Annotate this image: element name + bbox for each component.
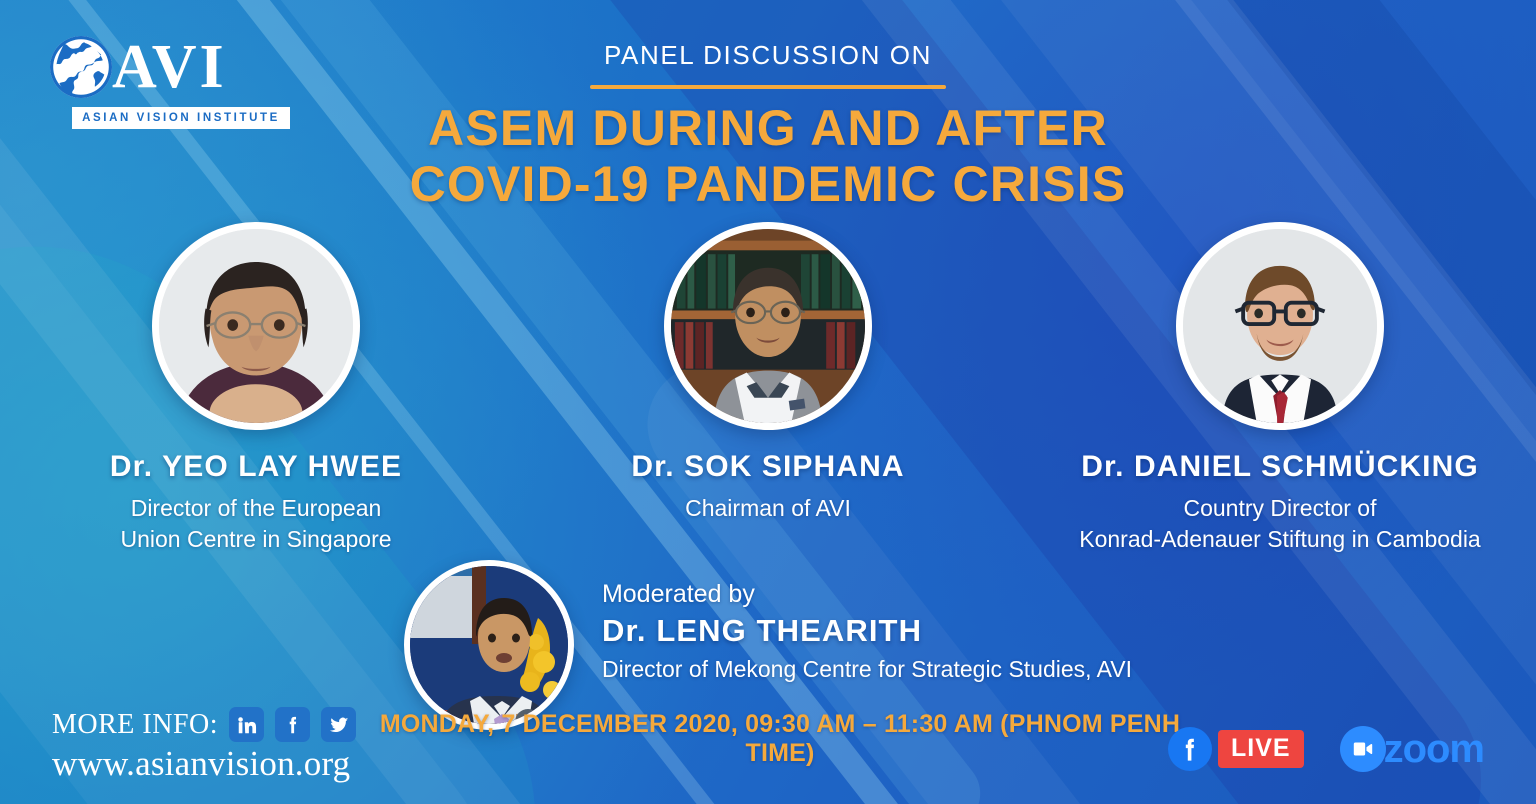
broadcast-platforms: LIVE zoom — [1168, 726, 1484, 772]
speaker-card-2: Dr. SOK SIPHANA Chairman of AVI — [512, 222, 1024, 555]
speaker-role-line-1: Director of the European — [0, 493, 512, 524]
zoom-badge[interactable]: zoom — [1340, 726, 1484, 772]
speaker-role-line-1: Country Director of — [1024, 493, 1536, 524]
speaker-role: Country Director of Konrad-Adenauer Stif… — [1024, 493, 1536, 555]
speaker-role-line-2: Konrad-Adenauer Stiftung in Cambodia — [1024, 524, 1536, 555]
title-line-2: COVID-19 PANDEMIC CRISIS — [0, 156, 1536, 212]
page-title: ASEM DURING AND AFTER COVID-19 PANDEMIC … — [0, 100, 1536, 212]
speaker-card-1: Dr. YEO LAY HWEE Director of the Europea… — [0, 222, 512, 555]
portrait-leng-thearith — [410, 566, 574, 730]
video-camera-icon — [1340, 726, 1386, 772]
moderator-name: Dr. LENG THEARITH — [602, 613, 1132, 649]
portrait-sok-siphana — [671, 229, 865, 423]
kicker-text: PANEL DISCUSSION ON — [0, 40, 1536, 71]
event-datetime: MONDAY, 7 DECEMBER 2020, 09:30 AM – 11:3… — [360, 710, 1200, 768]
facebook-live-badge[interactable]: LIVE — [1168, 727, 1304, 771]
more-info-block: MORE INFO: www.asianvision.org — [52, 707, 356, 784]
event-poster: AVI ASIAN VISION INSTITUTE PANEL DISCUSS… — [0, 0, 1536, 804]
speaker-role: Chairman of AVI — [512, 493, 1024, 524]
speaker-name: Dr. DANIEL SCHMÜCKING — [1024, 450, 1536, 484]
avatar — [404, 560, 574, 730]
speaker-card-3: Dr. DANIEL SCHMÜCKING Country Director o… — [1024, 222, 1536, 555]
website-url[interactable]: www.asianvision.org — [52, 744, 356, 784]
avatar — [1176, 222, 1384, 430]
twitter-icon[interactable] — [321, 707, 356, 742]
moderator-role: Director of Mekong Centre for Strategic … — [602, 656, 1132, 683]
title-line-1: ASEM DURING AND AFTER — [0, 100, 1536, 156]
kicker-underline — [590, 85, 946, 89]
avatar — [664, 222, 872, 430]
moderator-block: Moderated by Dr. LENG THEARITH Director … — [0, 560, 1536, 730]
zoom-label: zoom — [1384, 727, 1484, 772]
more-info-label: MORE INFO: — [52, 709, 218, 741]
speaker-role: Director of the European Union Centre in… — [0, 493, 512, 555]
speaker-name: Dr. YEO LAY HWEE — [0, 450, 512, 484]
live-label: LIVE — [1218, 730, 1304, 768]
portrait-yeo-lay-hwee — [159, 229, 353, 423]
linkedin-icon[interactable] — [229, 707, 264, 742]
speaker-name: Dr. SOK SIPHANA — [512, 450, 1024, 484]
speaker-role-line-2: Union Centre in Singapore — [0, 524, 512, 555]
facebook-icon — [1168, 727, 1212, 771]
portrait-daniel-schmucking — [1183, 229, 1377, 423]
speaker-role-line-1: Chairman of AVI — [512, 493, 1024, 524]
facebook-icon[interactable] — [275, 707, 310, 742]
moderator-text: Moderated by Dr. LENG THEARITH Director … — [602, 560, 1132, 683]
avatar — [152, 222, 360, 430]
speakers-row: Dr. YEO LAY HWEE Director of the Europea… — [0, 222, 1536, 555]
moderated-by-label: Moderated by — [602, 580, 1132, 609]
